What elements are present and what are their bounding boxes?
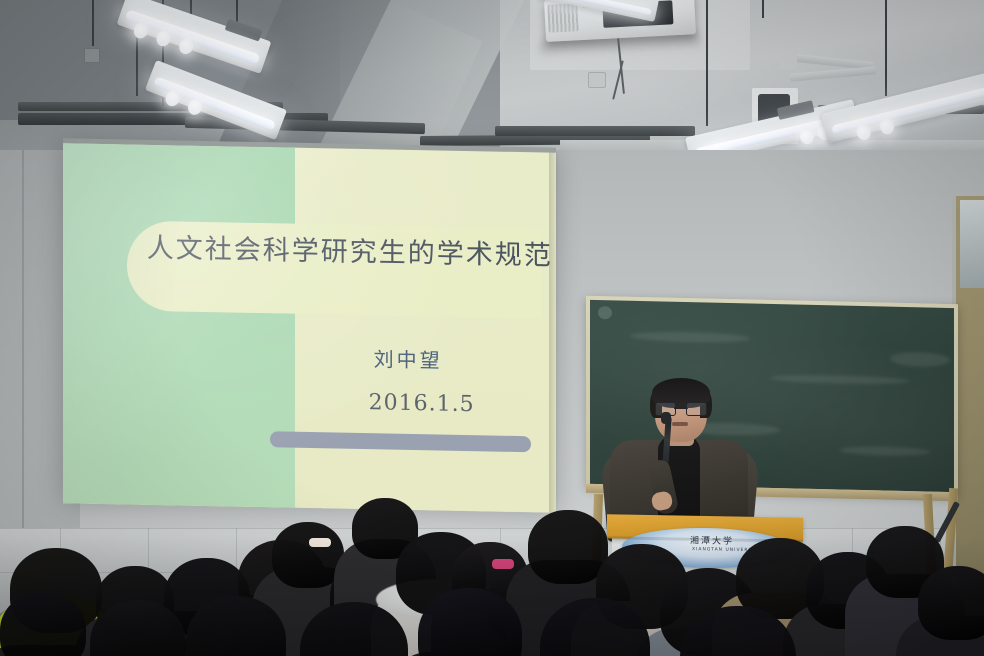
audience-member-head: [186, 596, 286, 656]
audience-member: [90, 600, 186, 656]
lecture-hall-scene: NEC: [0, 0, 984, 656]
electrical-outlet-icon: [84, 48, 100, 63]
light-hanging-rod: [706, 0, 708, 126]
audience-member-head: [918, 566, 984, 640]
microphone-head: [661, 412, 671, 424]
slide-green-panel: [63, 143, 295, 507]
light-hanging-rod: [885, 0, 887, 96]
audience-member: [418, 588, 522, 656]
audience-member-head: [540, 598, 650, 656]
projector-vent: [547, 3, 578, 33]
slide-accent-bar: [270, 432, 531, 452]
ceiling-rail: [495, 126, 695, 136]
audience-member-head: [680, 606, 796, 656]
door-window-glass: [960, 200, 984, 288]
audience-member: [0, 592, 86, 656]
audience-member-head: [300, 602, 408, 656]
ceiling-fan-hub: [779, 55, 797, 69]
presentation-slide: 人文社会科学研究生的学术规范 刘中望 2016.1.5: [63, 143, 556, 512]
audience-member-head: [0, 592, 86, 656]
light-hanging-rod: [762, 0, 764, 18]
audience-member-head: [418, 588, 522, 656]
light-hanging-rod: [92, 0, 94, 46]
eyeglass-lens-right: [686, 402, 707, 416]
audience-member: [680, 606, 796, 656]
chalkboard-corner-mark: [598, 306, 612, 319]
screen-edge-shadow: [549, 153, 559, 513]
audience-member: [186, 596, 286, 656]
audience-member-head: [90, 600, 186, 656]
slide-date: 2016.1.5: [369, 390, 475, 417]
audience: [0, 470, 984, 656]
audience-member: [300, 602, 408, 656]
audience-member: [540, 598, 650, 656]
light-hanging-rod: [236, 0, 238, 22]
projection-screen: 人文社会科学研究生的学术规范 刘中望 2016.1.5: [63, 143, 556, 512]
electrical-outlet-icon: [588, 72, 606, 88]
presenter-mouth: [672, 422, 688, 426]
hair-accessory: [309, 538, 331, 547]
slide-author: 刘中望: [374, 344, 443, 374]
audience-member: [918, 566, 984, 656]
